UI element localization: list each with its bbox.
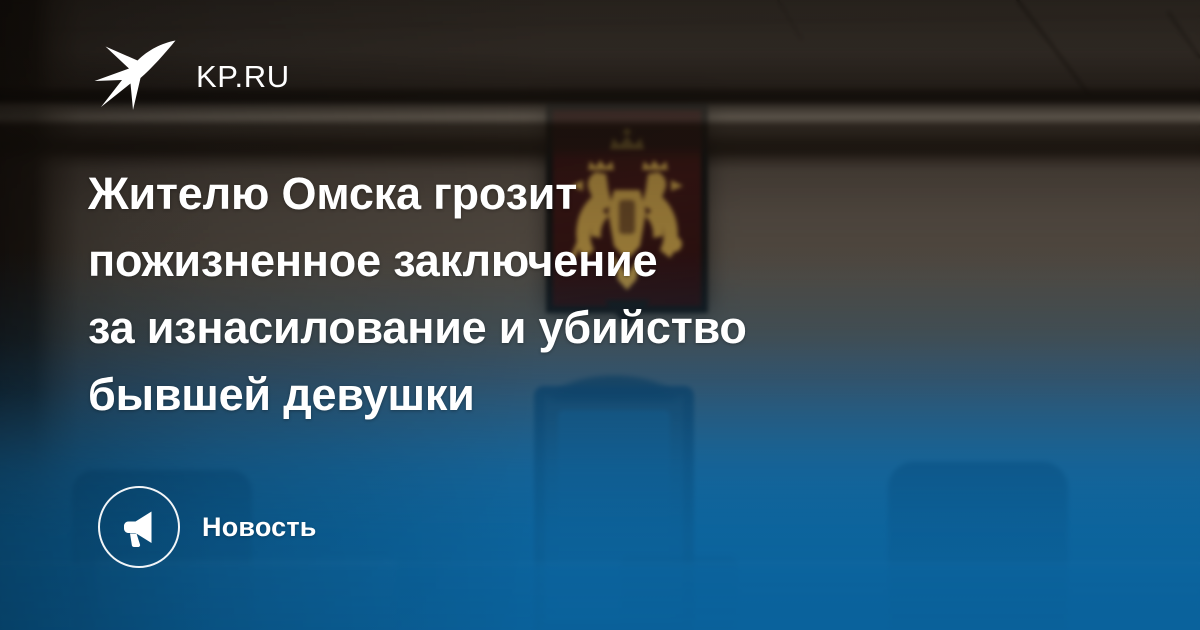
headline-line-3: за изнасилование и убийство	[88, 294, 988, 361]
news-share-card: KP.RU Жителю Омска грозит пожизненное за…	[0, 0, 1200, 630]
swallow-bird-icon	[92, 34, 178, 112]
badge-label: Новость	[202, 512, 317, 543]
headline-line-2: пожизненное заключение	[88, 227, 988, 294]
page-title: Жителю Омска грозит пожизненное заключен…	[88, 160, 988, 428]
badge-icon-circle	[98, 486, 180, 568]
brand-lockup[interactable]: KP.RU	[92, 34, 290, 112]
headline-line-1: Жителю Омска грозит	[88, 160, 988, 227]
megaphone-icon	[118, 506, 160, 548]
headline-line-4: бывшей девушки	[88, 361, 988, 428]
card-content: KP.RU Жителю Омска грозит пожизненное за…	[0, 0, 1200, 630]
brand-name: KP.RU	[196, 55, 290, 92]
status-badge[interactable]: Новость	[98, 486, 317, 568]
